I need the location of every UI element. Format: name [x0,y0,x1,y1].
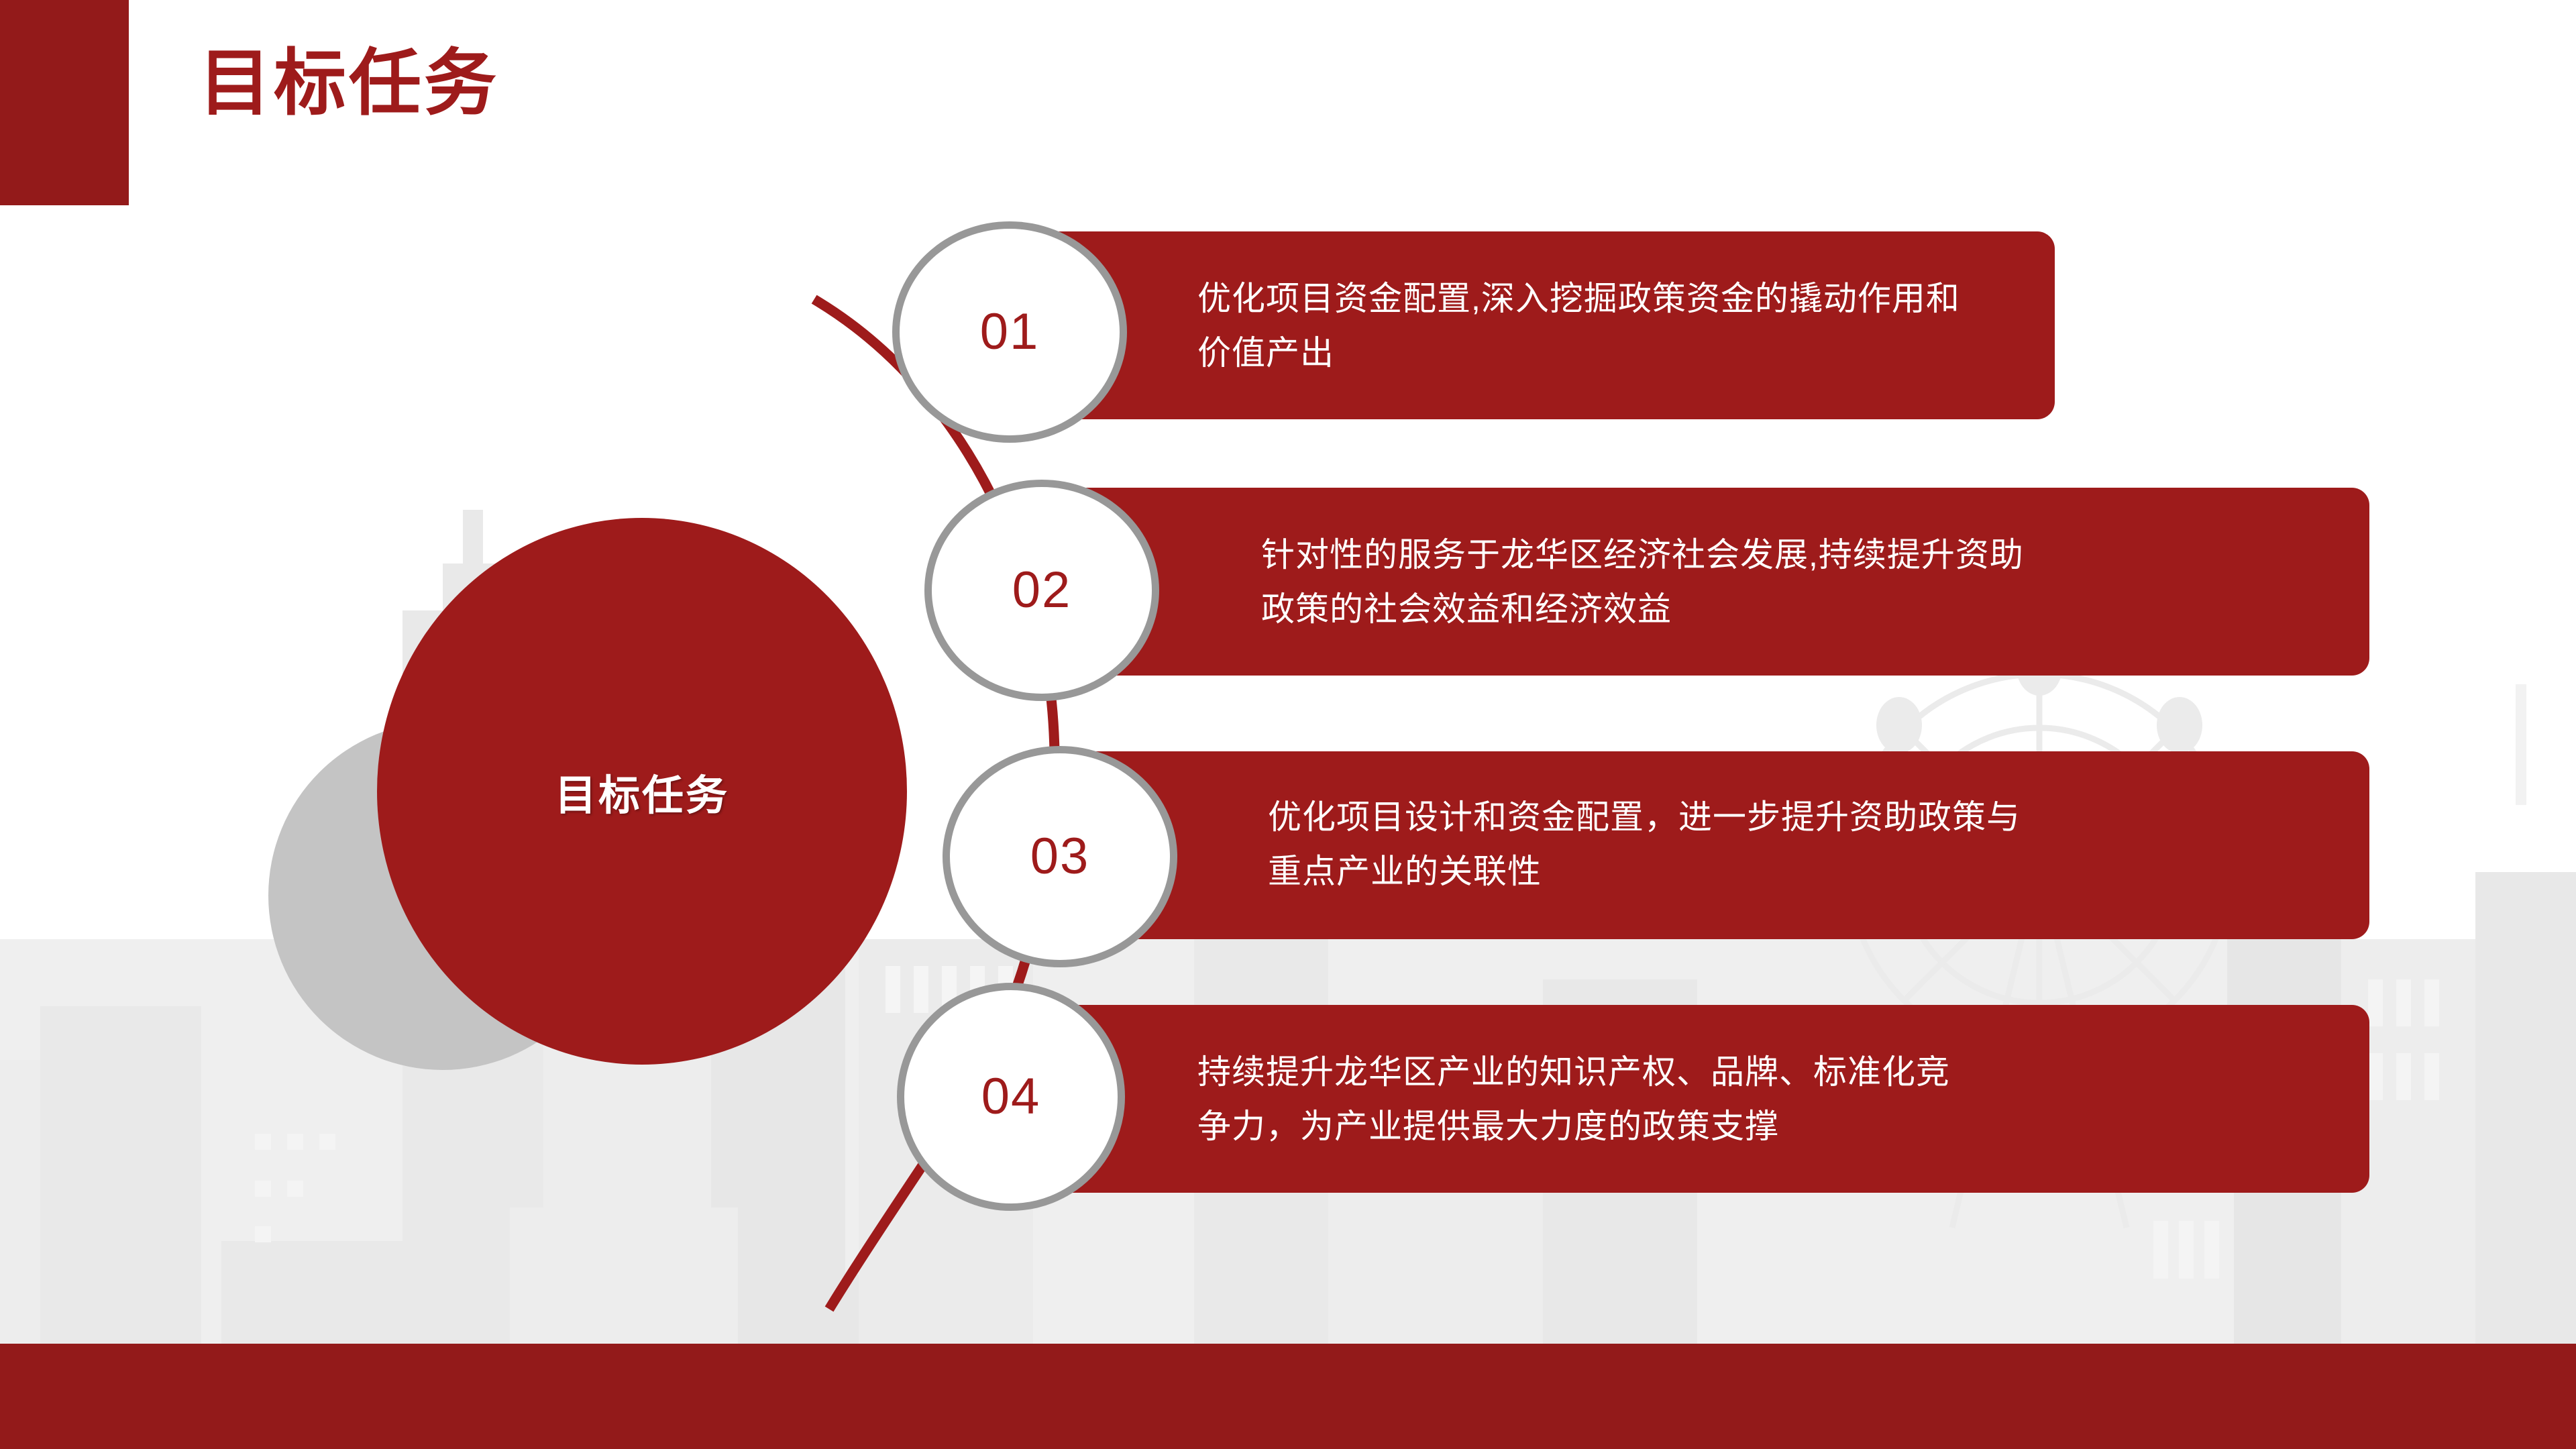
item-badge-number-01: 01 [980,307,1040,358]
item-badge-04[interactable]: 04 [897,983,1125,1211]
item-text-02: 针对性的服务于龙华区经济社会发展,持续提升资助 政策的社会效益和经济效益 [1261,528,2361,637]
page-title: 目标任务 [199,36,499,130]
item-text-04: 持续提升龙华区产业的知识产权、品牌、标准化竞 争力，为产业提供最大力度的政策支撑 [1197,1045,2324,1154]
item-badge-01[interactable]: 01 [892,221,1127,443]
item-text-01: 优化项目资金配置,深入挖掘政策资金的撬动作用和 价值产出 [1197,272,2036,380]
item-badge-number-03: 03 [1030,831,1090,882]
item-badge-number-04: 04 [981,1071,1041,1122]
item-badge-number-02: 02 [1012,565,1072,616]
item-badge-02[interactable]: 02 [924,480,1159,701]
header-accent-block [0,0,129,205]
slide-canvas: 目标任务 目标任务 优化项目资金配置,深入挖掘政策资金的撬动作用和 价值产出 0… [0,0,2576,1449]
item-text-03: 优化项目设计和资金配置，进一步提升资助政策与 重点产业的关联性 [1268,790,2361,899]
item-badge-03[interactable]: 03 [943,746,1177,967]
footer-accent-bar [0,1344,2576,1449]
hub-label: 目标任务 [377,518,907,1065]
